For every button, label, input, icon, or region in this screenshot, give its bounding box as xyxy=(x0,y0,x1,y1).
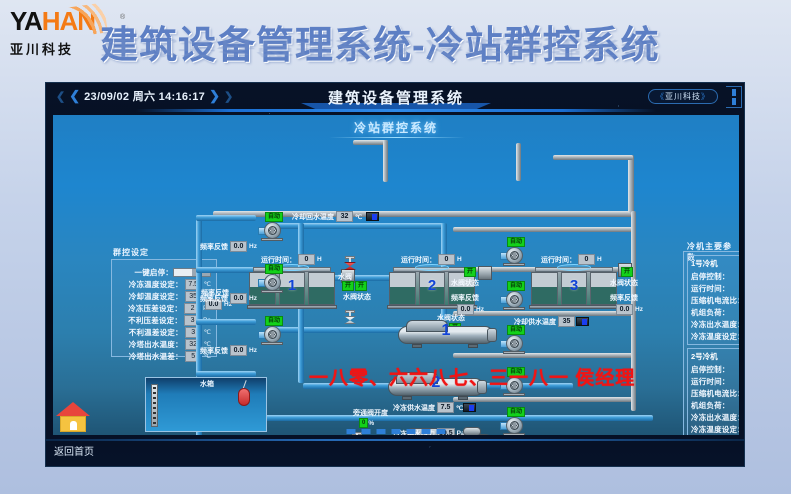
cooling-pump-1-freq-field: 频率反馈 0.0 Hz xyxy=(200,241,257,252)
home-button-label[interactable]: 返回首页 xyxy=(54,443,94,458)
chiller-2-row-runtime: 运行时间： 0 H xyxy=(691,375,739,387)
group-row-chilled-dp-label: 冷冻压差设定： xyxy=(128,303,182,314)
screen-bottom-bar: 返回首页 xyxy=(46,433,745,466)
tower-3-fan-icon xyxy=(557,264,591,271)
chiller-block-1: 1号冷机 启停控制： OFF 运行时间： 0 H 压缩机电流比： 95 % 机组… xyxy=(687,255,739,345)
group-row-chilled-temp-label: 冷冻温度设定： xyxy=(129,279,183,290)
chilled-pump-5-impeller-icon xyxy=(510,421,519,430)
chilled-pump-1-base xyxy=(503,263,525,266)
cooling-pump-1-freq-value: 0.0 xyxy=(230,241,247,252)
pipe-cooling-top-right xyxy=(553,155,633,160)
chiller-1-load-label: 机组负荷： xyxy=(691,307,739,318)
chiller-1-name: 1号冷机 xyxy=(691,258,739,269)
pipe-cool-branch-b xyxy=(196,267,256,273)
tower-2-runtime-field: 运行时间： 0 H xyxy=(401,254,462,265)
chiller-1-onoff-label: 启停控制： xyxy=(691,271,739,282)
chiller-2-row-current: 压缩机电流比： 95 % xyxy=(691,387,739,399)
cooling-pump-3-base xyxy=(261,342,283,345)
cooling-pump-3-freq-field: 频率反馈 0.0 Hz xyxy=(200,345,257,356)
cool-return-temp-label: 冷却回水温度 xyxy=(292,212,334,222)
cool-supply-temp-label: 冷却供水温度 xyxy=(514,317,556,327)
pipe-right-a xyxy=(453,227,633,232)
tower-3-freq-unit: Hz xyxy=(635,306,643,313)
diagram-title: 冷站群控系统 xyxy=(53,119,739,136)
bypass-valve-unit: % xyxy=(368,420,374,427)
mid-water-valve-state: 开 xyxy=(342,281,354,291)
group-row-tower-dt-label: 冷塔出水温差： xyxy=(129,351,183,362)
chiller-2-row-onoff[interactable]: 启停控制： OFF xyxy=(691,363,739,375)
home-icon-roof xyxy=(56,402,90,416)
chilled-pump-5-mode: 自动 xyxy=(507,407,525,417)
chiller-2-outlet-temp-label: 冷冻出水温度： xyxy=(691,412,739,423)
chiller-2-runtime-label: 运行时间： xyxy=(691,376,739,387)
tower-3-valve-state: 开 xyxy=(621,267,633,277)
tower-2-runtime-label: 运行时间： xyxy=(401,255,436,265)
group-control-panel-title: 群控设定 xyxy=(113,247,149,258)
chilled-supply-temp-field: 冷冻供水温度 7.5 ℃ xyxy=(393,402,463,413)
cooling-pump-3-mode: 自动 xyxy=(265,316,283,326)
cooling-pump-2-freq-label: 频率反馈 xyxy=(200,294,228,304)
chiller-unit-2-foot-left xyxy=(402,396,412,400)
cooling-pump-2-mode: 自动 xyxy=(265,264,283,274)
group-row-onoff-label: 一键启停： xyxy=(135,267,174,278)
mid-valve-lower-body xyxy=(344,316,356,324)
chilled-pump-3-base xyxy=(503,351,525,354)
cool-return-temp-sensor-icon xyxy=(366,212,379,221)
page-title-wrap: 建筑设备管理系统-冷站群控系统 建筑设备管理系统-冷站群控系统 xyxy=(100,14,740,74)
pipe-chilled-supply-main xyxy=(233,415,653,421)
tower-1-valve-label: 水阀状态 xyxy=(343,292,371,302)
tower-1-runtime-label: 运行时间： xyxy=(261,255,296,265)
chilled-pump-1-mode: 自动 xyxy=(507,237,525,247)
chiller-unit-1-foot-right xyxy=(468,344,478,348)
chilled-supply-temp-value: 7.5 xyxy=(437,402,454,413)
water-level-gauge-icon xyxy=(151,384,158,427)
tower-2-freq-label: 频率反馈 xyxy=(451,293,479,303)
chip-left-bracket-icon: 《 xyxy=(656,92,665,101)
chilled-pump-4-base xyxy=(503,393,525,396)
tower-3-runtime-label: 运行时间： xyxy=(541,255,576,265)
bypass-valve-label: 旁通阀开度 xyxy=(353,408,388,418)
home-icon[interactable] xyxy=(56,402,90,432)
screen-title: 建筑设备管理系统 xyxy=(46,87,745,108)
mid-valve-upper-body xyxy=(344,262,356,270)
group-row-adverse-dt-unit: ℃ xyxy=(204,328,211,336)
chilled-pump-3[interactable] xyxy=(500,335,526,353)
mid-valve-upper[interactable] xyxy=(344,257,356,271)
tower-1-runtime-unit: H xyxy=(317,256,322,263)
chiller-1-row-current: 压缩机电流比： 95 % xyxy=(691,294,739,306)
page-header: YAHAN ® 亚川科技 建筑设备管理系统-冷站群控系统 建筑设备管理系统-冷站… xyxy=(0,0,791,80)
water-tank-label: 水箱 xyxy=(146,379,268,389)
contact-watermark: 一八零、六六八七、三一八一 侯经理 xyxy=(309,363,635,390)
bottom-bar-line xyxy=(46,439,745,441)
cooling-pump-1-impeller-icon xyxy=(268,226,277,235)
cool-supply-temp-field: 冷却供水温度 35 ℃ xyxy=(514,316,584,327)
chiller-1-runtime-label: 运行时间： xyxy=(691,283,739,294)
cooling-pump-3-freq-value: 0.0 xyxy=(230,345,247,356)
tower-3-base xyxy=(529,305,619,309)
chiller-1-row-outlet-temp: 冷冻出水温度： 24 ℃ xyxy=(691,318,739,330)
tower-3-freq-value: 0.0 xyxy=(616,304,633,315)
cool-return-temp-field: 冷却回水温度 32 ℃ xyxy=(292,211,362,222)
pipe-cooling-right-riser xyxy=(628,155,634,213)
chilled-pump-2[interactable] xyxy=(500,291,526,309)
pipe-tower-down-2 xyxy=(516,143,521,181)
cooling-pump-3[interactable] xyxy=(258,326,284,344)
chiller-2-row-load: 机组负荷： 0 Pa xyxy=(691,399,739,411)
cooling-pump-3-impeller-icon xyxy=(268,330,277,339)
bottom-bar-dots xyxy=(347,429,446,434)
bypass-valve-field: 0 % xyxy=(359,418,374,428)
chiller-unit-1[interactable]: 1 xyxy=(398,320,494,350)
tower-3-freq-field: 0.0 Hz xyxy=(614,304,643,315)
page-title-reflection: 建筑设备管理系统-冷站群控系统 xyxy=(100,36,740,64)
chiller-1-row-setpoint[interactable]: 冷冻温度设定： 9 ℃ xyxy=(691,330,739,342)
tower-2-valve-state: 开 xyxy=(464,267,476,277)
tower-2-valve-label: 水阀状态 xyxy=(451,278,479,288)
cool-return-temp-value: 32 xyxy=(336,211,353,222)
tower-1-base xyxy=(247,305,337,309)
brand-chip: 《亚川科技》 xyxy=(648,89,718,104)
cool-supply-temp-sensor-icon xyxy=(576,317,589,326)
chilled-pump-2-impeller-icon xyxy=(510,295,519,304)
chiller-1-setpoint-label: 冷冻温度设定： xyxy=(691,331,739,342)
cooling-pump-2-freq-field: 频率反馈 0.0 Hz xyxy=(200,293,257,304)
tower-3-runtime-value: 0 xyxy=(578,254,595,265)
chiller-block-2: 2号冷机 启停控制： OFF 运行时间： 0 H 压缩机电流比： 95 % 机组… xyxy=(687,348,739,435)
chilled-pump-2-base xyxy=(503,307,525,310)
chiller-unit-1-number: 1 xyxy=(398,322,494,340)
hmi-screen: ❮ ❮ 23/09/02 周六 14:16:17 ❯ ❯ 建筑设备管理系统 《亚… xyxy=(45,82,745,467)
tower-2-fan-icon xyxy=(415,264,449,271)
chiller-1-row-load: 机组负荷： 0 W xyxy=(691,306,739,318)
chilled-supply-temp-label: 冷冻供水温度 xyxy=(393,403,435,413)
group-row-adverse-dt-label: 不利温差设定： xyxy=(129,327,183,338)
tower-2-runtime-value: 0 xyxy=(438,254,455,265)
chilled-pump-1[interactable] xyxy=(500,247,526,265)
brand-chip-label: 亚川科技 xyxy=(665,92,701,101)
process-diagram-canvas: 冷站群控系统 一键启停： OFF 冷冻温度设定： 7.5 ℃ 冷却温度设定： 3… xyxy=(53,115,739,435)
chiller-2-load-label: 机组负荷： xyxy=(691,400,739,411)
diagram-title-underline xyxy=(329,137,465,138)
float-ball-icon xyxy=(238,388,250,406)
group-row-cooling-temp-label: 冷却温度设定： xyxy=(129,291,183,302)
tower-1-valve-state: 开 xyxy=(355,281,367,291)
cooling-pump-1-freq-label: 频率反馈 xyxy=(200,242,228,252)
chiller-1-row-runtime: 运行时间： 0 H xyxy=(691,282,739,294)
chiller-2-row-outlet-temp: 冷冻出水温度： 24 ℃ xyxy=(691,411,739,423)
cooling-pump-1-freq-unit: Hz xyxy=(249,243,257,250)
chiller-2-current-label: 压缩机电流比： xyxy=(691,388,739,399)
group-row-adverse-dp-label: 不利压差设定： xyxy=(128,315,182,326)
mid-valve-lower[interactable] xyxy=(344,311,356,325)
tower-2-valve-actuator[interactable] xyxy=(478,266,492,280)
chip-right-bracket-icon: 》 xyxy=(701,92,710,101)
tower-2-runtime-unit: H xyxy=(457,256,462,263)
cool-supply-temp-value: 35 xyxy=(558,316,575,327)
pipe-cool-out-a xyxy=(268,223,443,229)
screen-corner-decoration xyxy=(726,86,742,108)
bypass-valve-value: 0 xyxy=(359,418,368,428)
tower-3-freq-label: 频率反馈 xyxy=(610,293,638,303)
chilled-pump-2-mode: 自动 xyxy=(507,281,525,291)
cooling-pump-1-mode: 自动 xyxy=(265,212,283,222)
chilled-supply-temp-sensor-icon xyxy=(463,403,476,412)
chiller-1-row-onoff[interactable]: 启停控制： OFF xyxy=(691,270,739,282)
tower-3-valve-label: 水阀状态 xyxy=(610,278,638,288)
tower-1-runtime-value: 0 xyxy=(298,254,315,265)
home-icon-body xyxy=(60,416,86,432)
chilled-pump-3-impeller-icon xyxy=(510,339,519,348)
water-tank: 水箱 xyxy=(145,377,267,432)
tower-3-runtime-field: 运行时间： 0 H xyxy=(541,254,602,265)
cooling-pump-3-freq-unit: Hz xyxy=(249,347,257,354)
cooling-pump-2-freq-value: 0.0 xyxy=(230,293,247,304)
cooling-pump-2[interactable] xyxy=(258,274,284,292)
chiller-unit-2-foot-right xyxy=(458,396,468,400)
cooling-tower-3[interactable]: 3 xyxy=(531,267,617,311)
pipe-right-d xyxy=(453,353,633,358)
cool-return-temp-unit: ℃ xyxy=(355,213,362,221)
top-bar-glow-line xyxy=(136,109,656,112)
chilled-pump-1-impeller-icon xyxy=(510,251,519,260)
cooling-pump-3-freq-label: 频率反馈 xyxy=(200,346,228,356)
tower-3-runtime-unit: H xyxy=(597,256,602,263)
chiller-2-name: 2号冷机 xyxy=(691,351,739,362)
tower-3-number: 3 xyxy=(531,277,617,294)
cooling-pump-2-base xyxy=(261,290,283,293)
pipe-cool-branch-a xyxy=(196,215,256,221)
group-row-tower-temp-label: 冷塔出水温度： xyxy=(129,339,183,350)
cooling-pump-1-base xyxy=(261,238,283,241)
cooling-pump-2-freq-unit: Hz xyxy=(249,295,257,302)
cooling-pump-2-impeller-icon xyxy=(268,278,277,287)
chiller-2-onoff-label: 启停控制： xyxy=(691,364,739,375)
chiller-params-panel: 1号冷机 启停控制： OFF 运行时间： 0 H 压缩机电流比： 95 % 机组… xyxy=(683,251,739,435)
chiller-1-current-label: 压缩机电流比： xyxy=(691,295,739,306)
chiller-unit-1-foot-left xyxy=(412,344,422,348)
logo-text-ya: YA xyxy=(10,6,42,36)
home-icon-door xyxy=(70,421,77,430)
cooling-pump-1[interactable] xyxy=(258,222,284,240)
tower-2-freq-unit: Hz xyxy=(476,306,484,313)
screen-top-bar: ❮ ❮ 23/09/02 周六 14:16:17 ❯ ❯ 建筑设备管理系统 《亚… xyxy=(46,83,745,113)
group-row-chilled-temp-unit: ℃ xyxy=(204,280,211,288)
pipe-cool-branch-c xyxy=(196,319,256,325)
pipe-tower-down-1 xyxy=(383,140,388,182)
chiller-1-outlet-temp-label: 冷冻出水温度： xyxy=(691,319,739,330)
